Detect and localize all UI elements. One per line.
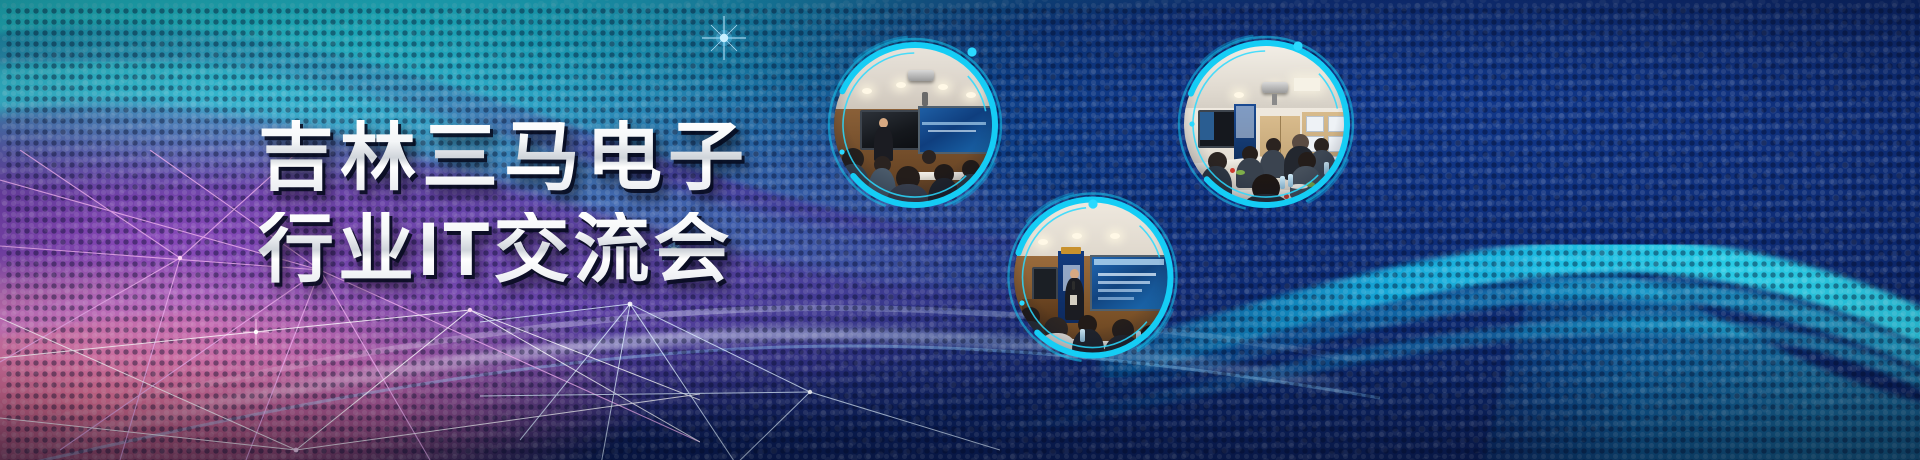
headline-line-1: 吉林三马电子 bbox=[258, 120, 798, 196]
photo-circle-top-right[interactable] bbox=[1170, 28, 1362, 220]
sparkle-top-center-icon bbox=[700, 14, 748, 62]
photo-circle-bottom-middle[interactable] bbox=[1000, 185, 1185, 370]
tech-ring-top-right bbox=[1170, 28, 1362, 220]
headline-line-2: 行业IT交流会 bbox=[258, 212, 798, 288]
tech-ring-top-left bbox=[820, 30, 1010, 220]
sparkle-left-lower-icon bbox=[242, 318, 270, 346]
photo-circle-top-left[interactable] bbox=[820, 30, 1010, 220]
banner-headline: 吉林三马电子 行业IT交流会 bbox=[258, 120, 798, 288]
event-banner: 吉林三马电子 行业IT交流会 bbox=[0, 0, 1920, 460]
tech-ring-bottom-middle bbox=[1000, 185, 1185, 370]
